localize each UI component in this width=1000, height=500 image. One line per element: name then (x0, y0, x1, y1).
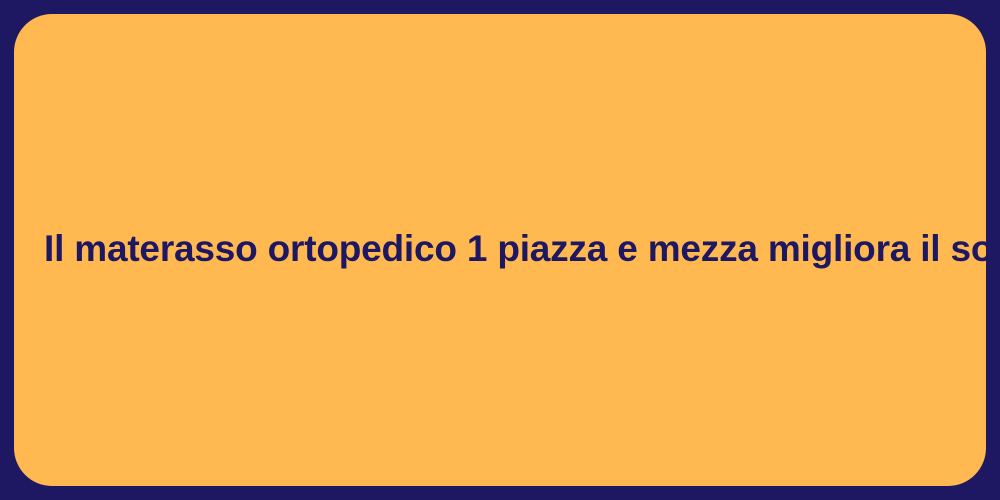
page-title: Il materasso ortopedico 1 piazza e mezza… (14, 226, 986, 272)
headline-card: Il materasso ortopedico 1 piazza e mezza… (14, 14, 986, 486)
screenshot-root: Il materasso ortopedico 1 piazza e mezza… (0, 0, 1000, 500)
